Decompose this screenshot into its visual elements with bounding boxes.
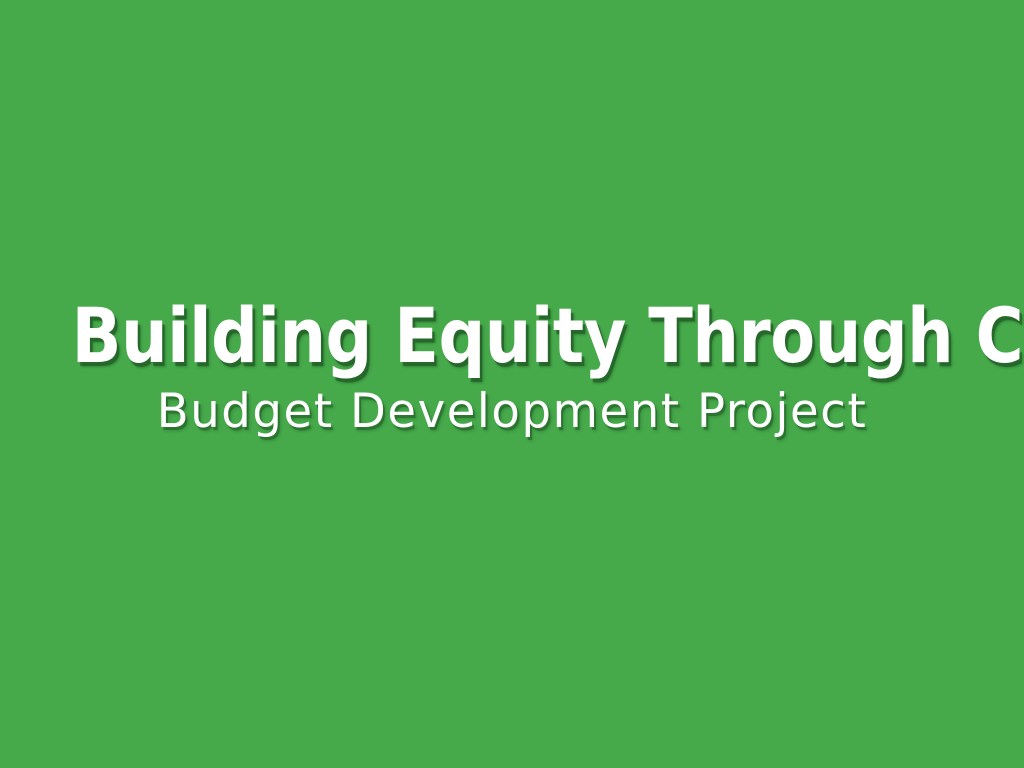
presentation-slide: Building Equity Through CLSP: Budget Dev…: [0, 0, 1024, 768]
slide-subtitle: Budget Development Project: [5, 388, 1019, 435]
slide-title: Building Equity Through CLSP:: [72, 298, 953, 374]
title-block: Building Equity Through CLSP: Budget Dev…: [0, 298, 1024, 435]
